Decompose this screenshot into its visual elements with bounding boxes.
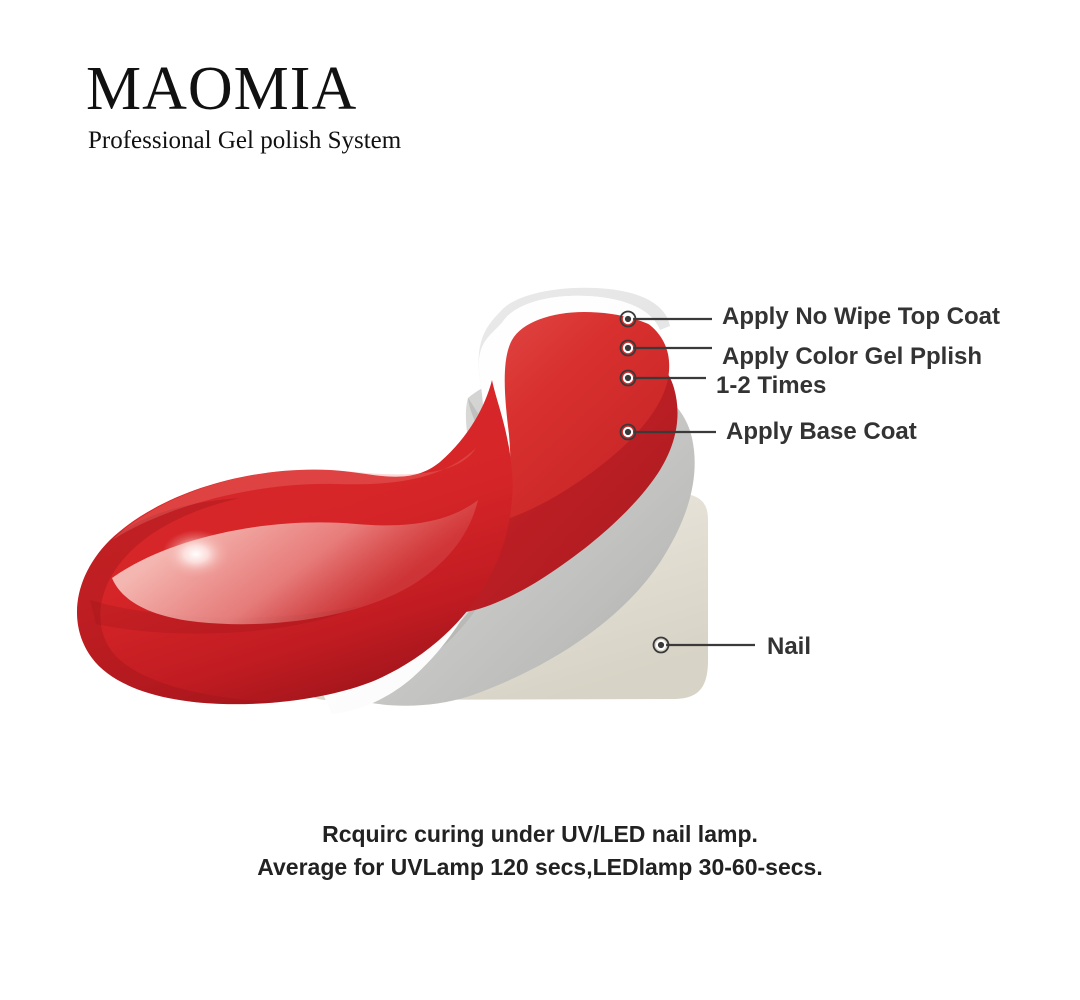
marker-gap bbox=[623, 343, 633, 353]
brand-tagline: Professional Gel polish System bbox=[88, 128, 566, 153]
color-gel-dark-layer bbox=[466, 340, 678, 612]
marker-gap bbox=[656, 640, 666, 650]
marker-ring-icon bbox=[621, 312, 636, 327]
marker-gap bbox=[623, 373, 633, 383]
marker-dot-icon bbox=[625, 375, 631, 381]
callout-color-gel-times bbox=[621, 371, 707, 386]
color-gel-bright-layer bbox=[482, 306, 669, 526]
top-coat-layer bbox=[322, 288, 670, 714]
callout-label-top-coat: Apply No Wipe Top Coat bbox=[722, 303, 1000, 331]
caption-line-2: Average for UVLamp 120 secs,LEDlamp 30-6… bbox=[0, 851, 1080, 884]
marker-dot-icon bbox=[625, 316, 631, 322]
marker-ring-icon bbox=[621, 371, 636, 386]
callout-top-coat bbox=[621, 312, 713, 327]
callout-color-gel bbox=[621, 341, 713, 356]
caption-line-1: Rcquirc curing under UV/LED nail lamp. bbox=[0, 818, 1080, 851]
callout-label-color-gel-times: 1-2 Times bbox=[716, 372, 826, 400]
callout-label-nail: Nail bbox=[767, 633, 811, 661]
marker-dot-icon bbox=[625, 429, 631, 435]
marker-dot-icon bbox=[625, 345, 631, 351]
base-coat-layer bbox=[340, 370, 695, 706]
instruction-caption: Rcquirc curing under UV/LED nail lamp. A… bbox=[0, 818, 1080, 883]
callout-label-base-coat: Apply Base Coat bbox=[726, 418, 917, 446]
marker-gap bbox=[623, 314, 633, 324]
brand-name: MAOMIA bbox=[86, 58, 566, 120]
marker-ring-icon bbox=[621, 425, 636, 440]
callout-label-color-gel: Apply Color Gel Pplish bbox=[722, 343, 982, 371]
brand-logo: MAOMIA Professional Gel polish System bbox=[86, 58, 566, 153]
callout-base-coat bbox=[621, 425, 717, 440]
marker-dot-icon bbox=[658, 642, 664, 648]
marker-ring-icon bbox=[621, 341, 636, 356]
callout-nail bbox=[654, 638, 756, 653]
marker-gap bbox=[623, 427, 633, 437]
nail-plate-layer bbox=[310, 493, 708, 700]
marker-ring-icon bbox=[654, 638, 669, 653]
nail-tip-gel bbox=[77, 380, 513, 704]
